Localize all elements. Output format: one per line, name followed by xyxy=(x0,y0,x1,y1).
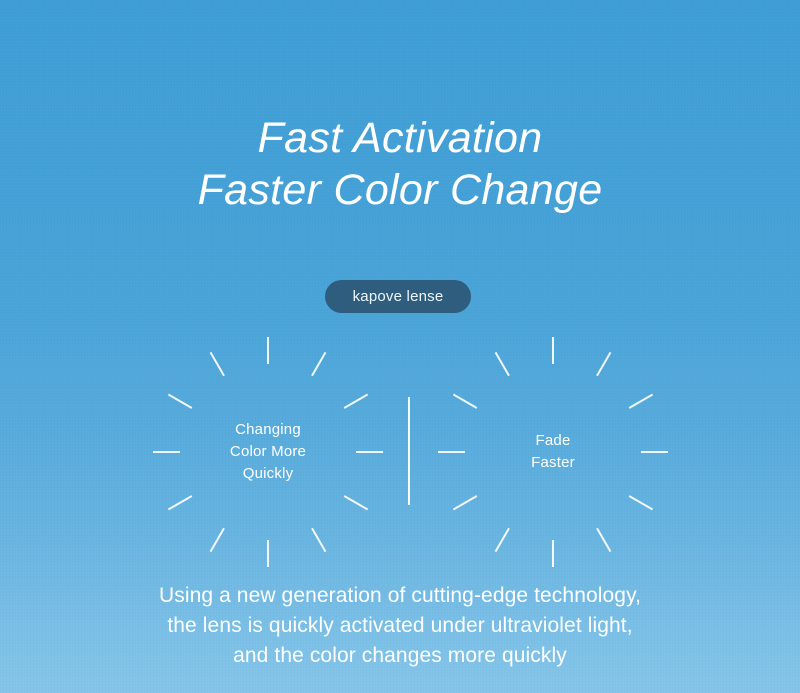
promo-banner: Fast Activation Faster Color Change kapo… xyxy=(0,0,800,693)
sunburst-right-label: Fade Faster xyxy=(438,337,668,567)
paragraph-line-1: Using a new generation of cutting-edge t… xyxy=(0,581,800,611)
sunburst-left-label-line-1: Changing xyxy=(235,419,301,441)
sunburst-left-label-line-3: Quickly xyxy=(243,463,294,485)
sunburst-left-label-line-2: Color More xyxy=(230,441,306,463)
sunburst-right-label-line-1: Fade xyxy=(536,430,571,452)
sunburst-left-label: Changing Color More Quickly xyxy=(153,337,383,567)
paragraph-line-3: and the color changes more quickly xyxy=(0,641,800,671)
description-paragraph: Using a new generation of cutting-edge t… xyxy=(0,581,800,671)
product-badge-label: kapove lense xyxy=(353,289,444,304)
headline-line-1: Fast Activation xyxy=(0,112,800,164)
page-title: Fast Activation Faster Color Change xyxy=(0,112,800,216)
headline-line-2: Faster Color Change xyxy=(0,164,800,216)
product-badge: kapove lense xyxy=(325,280,471,313)
paragraph-line-2: the lens is quickly activated under ultr… xyxy=(0,611,800,641)
sunburst-fade-faster: Fade Faster xyxy=(438,337,668,567)
sunburst-right-label-line-2: Faster xyxy=(531,452,575,474)
sunburst-changing-color-more-quickly: Changing Color More Quickly xyxy=(153,337,383,567)
vertical-divider xyxy=(408,397,410,505)
